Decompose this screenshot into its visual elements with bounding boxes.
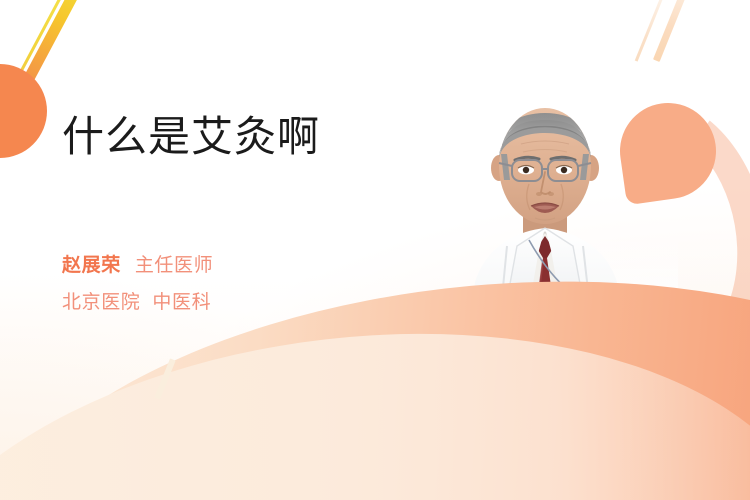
doctor-name: 赵展荣 [62,254,121,276]
byline: 赵展荣主任医师 北京医院中医科 [62,247,213,321]
byline-row-affiliation: 北京医院中医科 [62,284,213,321]
department-name: 中医科 [152,291,211,313]
hospital-name: 北京医院 [62,291,140,313]
doctor-info-card: 什么是艾灸啊 赵展荣主任医师 北京医院中医科 [0,0,750,500]
page-title: 什么是艾灸啊 [62,113,320,161]
doctor-role: 主任医师 [135,254,213,276]
byline-row-name: 赵展荣主任医师 [62,247,213,284]
